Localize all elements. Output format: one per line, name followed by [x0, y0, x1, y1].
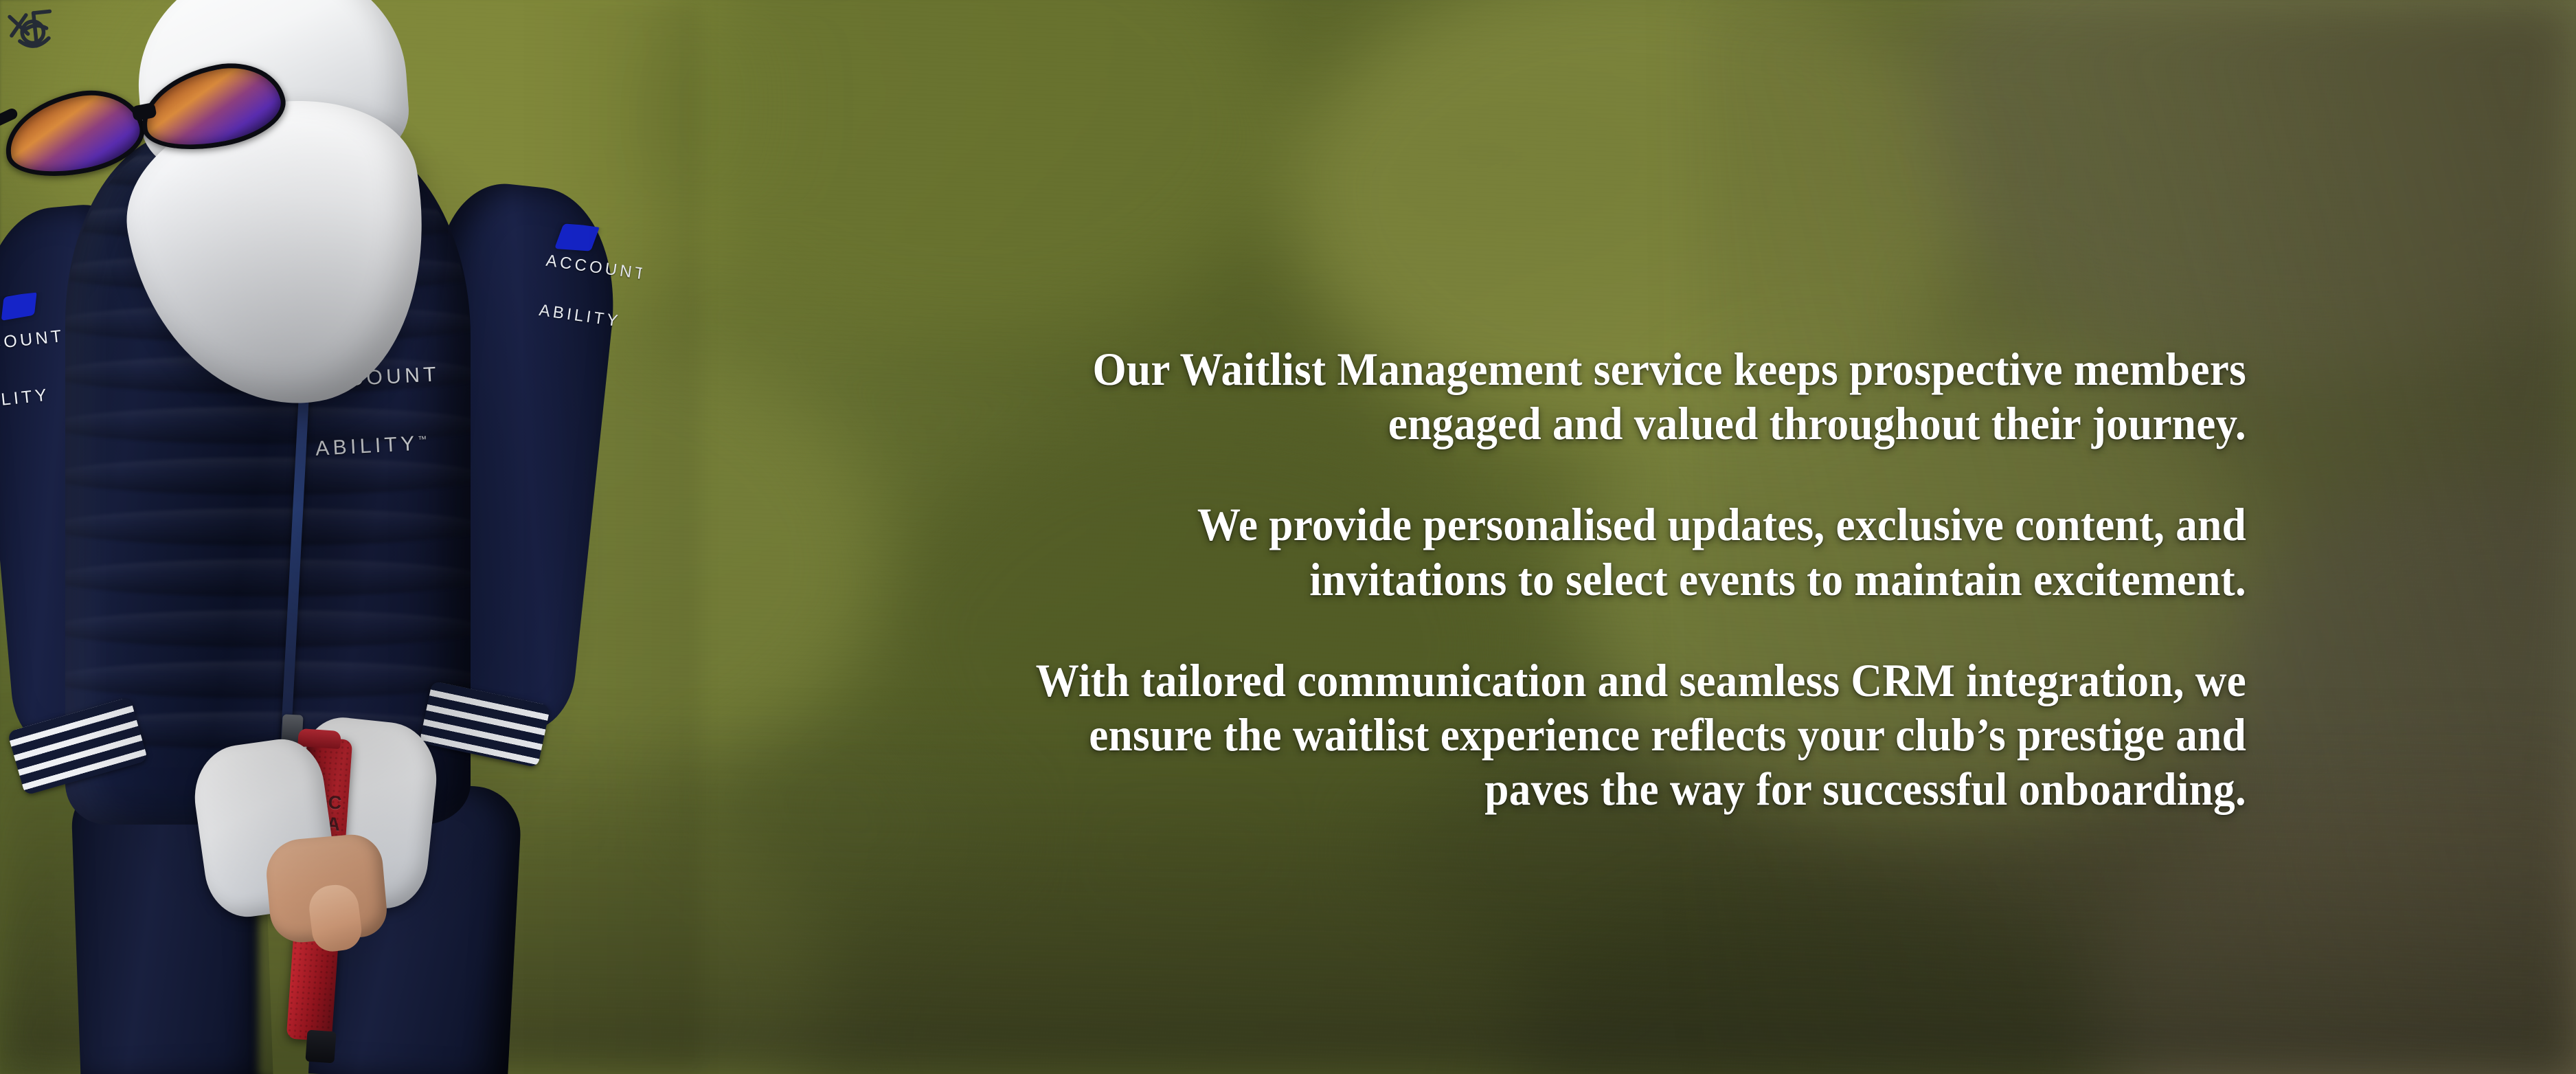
sponsor-logo-line2: ABILITY [538, 300, 636, 333]
sponsor-logo-shoulder: ACCOUNT ABILITY [534, 221, 647, 357]
paragraph-3: With tailored communication and seamless… [1013, 653, 2246, 817]
sunglasses-lens-right [133, 53, 292, 160]
sponsor-logo-line2: ABILITY [0, 382, 68, 414]
sponsor-logo-line1: ACCOUNT [545, 251, 643, 284]
hero-banner: ACCOUNT ABILITY™ ACCOUNT ABILITY ACCOUNT… [0, 0, 2576, 1074]
sponsor-logo-line2-text: ABILITY [315, 432, 418, 460]
sunglasses-lens-left [0, 80, 151, 187]
putter-shaft-ferrule [305, 1030, 336, 1064]
paragraph-2: We provide personalised updates, exclusi… [1013, 497, 2246, 606]
golfer-figure: ACCOUNT ABILITY™ ACCOUNT ABILITY ACCOUNT… [0, 0, 659, 1074]
sponsor-logo-trademark-icon: ™ [418, 434, 427, 445]
sponsor-logo-line1: ACCOUNT [0, 326, 62, 357]
paragraph-1: Our Waitlist Management service keeps pr… [1013, 342, 2246, 451]
hero-copy-block: Our Waitlist Management service keeps pr… [920, 295, 2246, 864]
putter-grip-cap [297, 728, 341, 749]
cap-monogram-icon [0, 0, 67, 68]
